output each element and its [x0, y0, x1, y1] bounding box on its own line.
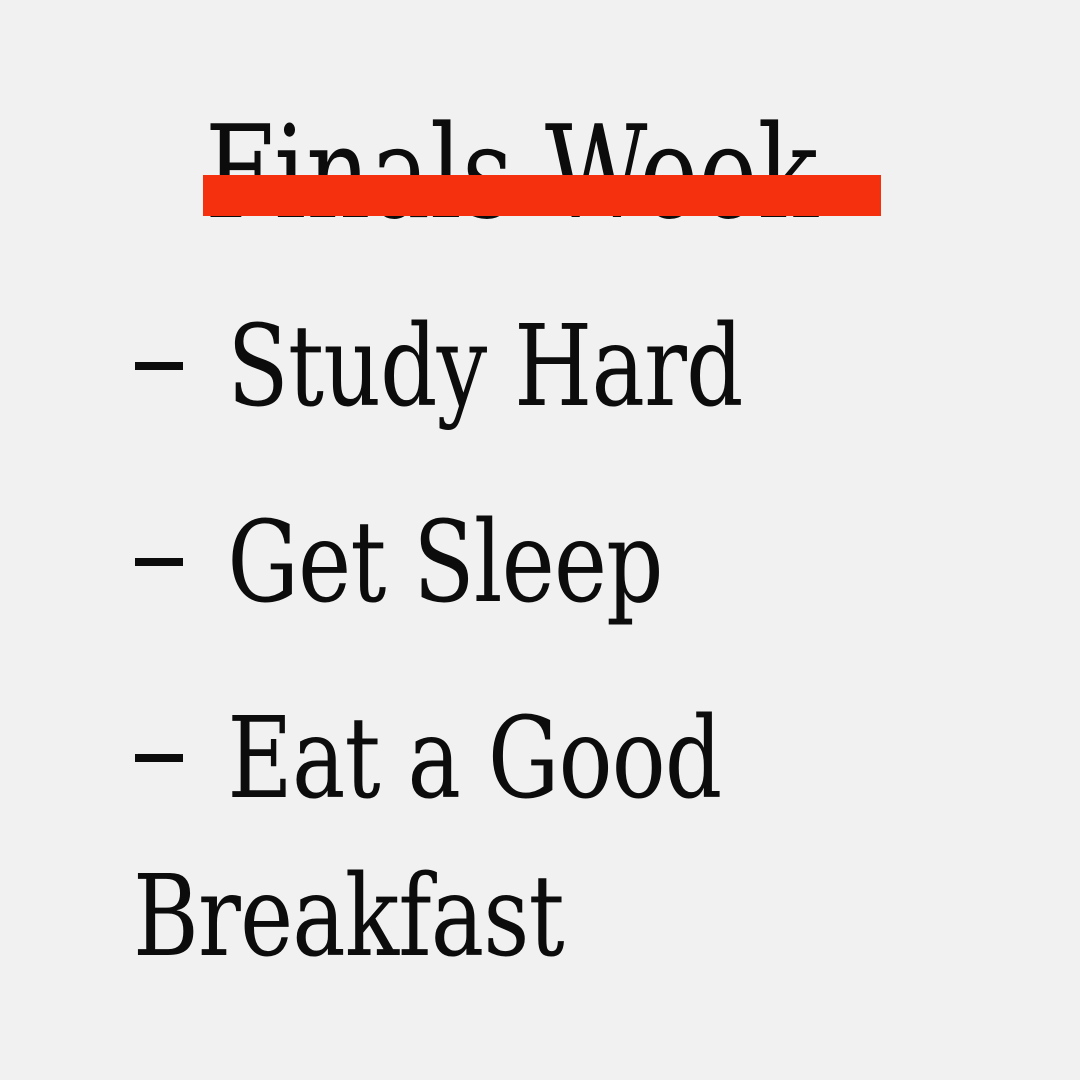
list-item-label: Eat a Good Breakfast: [133, 680, 1037, 996]
list-item-text-wrapper: Eat a Good Breakfast: [0, 680, 1080, 996]
list-item: Study Hard: [0, 288, 1080, 446]
list-item-text-wrapper: Get Sleep: [0, 484, 1080, 642]
checklist: Study Hard Get Sleep Eat a Good Breakfas…: [0, 288, 1080, 996]
poster-canvas: Finals Week Study Hard Get Sleep Eat a G…: [0, 0, 1080, 1080]
list-item-label: Study Hard: [133, 288, 1037, 446]
list-item-label: Get Sleep: [133, 484, 1037, 642]
title-underline-rule: [203, 175, 881, 216]
list-item: Get Sleep: [0, 484, 1080, 642]
list-item: Eat a Good Breakfast: [0, 680, 1080, 996]
list-item-text-wrapper: Study Hard: [0, 288, 1080, 446]
page-title: Finals Week: [205, 104, 743, 244]
